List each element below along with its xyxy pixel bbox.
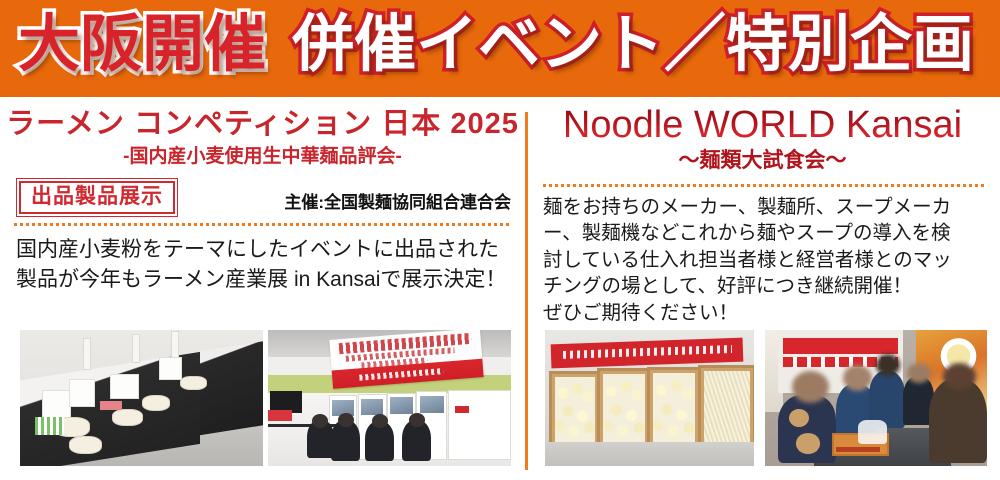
photo3-noodle-fill-1 [555, 377, 595, 442]
left-panel-body: 国内産小麦粉をテーマにしたイベントに出品された 製品が今年もラーメン産業展 in… [16, 235, 511, 295]
photo1-stand-1 [83, 338, 91, 370]
photo2-panel-image-2 [361, 399, 383, 416]
right-body-line-3: 討している仕入れ担当者様と経営者様とのマッ [543, 247, 990, 274]
photo3-noodle-fill-3 [653, 373, 695, 443]
photo1-color-swatch [100, 401, 122, 411]
photo3-dry-noodles [704, 371, 750, 441]
photo1-sample-5 [180, 376, 206, 390]
photo2-panel-5 [448, 390, 511, 460]
photo-competition-booth [268, 330, 511, 466]
photo3-crate-3 [647, 367, 701, 449]
exhibit-badge-label: 出品製品展示 [19, 181, 175, 214]
photo2-attendee-head-2 [338, 413, 354, 427]
left-panel-badge-row: 出品製品展示 主催:全国製麺協同組合連合会 [12, 178, 513, 214]
panels-container: ラーメン コンペティション 日本 2025 -国内産小麦使用生中華麺品評会- 出… [0, 97, 1000, 480]
photo1-sample-2 [69, 436, 103, 454]
photo4-plastic-bag [858, 420, 887, 444]
photo4-staff-1-head [843, 365, 872, 391]
header-text-group: 大阪開催 併催イベント／特別企画 [18, 6, 974, 84]
right-body-line-1: 麺をお持ちのメーカー、製麺所、スープメーカ [543, 194, 990, 221]
photo1-card-1 [42, 390, 71, 419]
exhibit-badge: 出品製品展示 [16, 178, 178, 217]
photo2-banner-host-text [359, 368, 444, 381]
photo1-stand-3 [171, 331, 179, 357]
right-photo-row [545, 330, 988, 466]
photo-product-display [20, 330, 263, 466]
photo4-visitor-3-body [929, 379, 987, 463]
event-banner: 大阪開催 併催イベント／特別企画 ラーメン コンペティション 日本 2025 -… [0, 0, 1000, 480]
banner-header: 大阪開催 併催イベント／特別企画 [0, 0, 1000, 97]
left-photo-row [20, 330, 512, 466]
right-panel-body: 麺をお持ちのメーカー、製麺所、スープメーカ ー、製麺機などこれから麺やスープの導… [543, 194, 990, 327]
photo3-crate-1 [549, 371, 601, 448]
photo1-green-chart [35, 417, 64, 435]
right-panel-subtitle: ～麺類大試食会～ [525, 149, 1000, 172]
photo4-knit-pattern-1 [789, 409, 809, 427]
left-body-line-2: 製品が今年もラーメン産業展 in Kansaiで展示決定！ [16, 268, 506, 291]
photo2-panel-image-4 [420, 396, 444, 413]
photo4-knit-pattern-2 [796, 433, 820, 453]
photo3-banner-caption-text [563, 345, 732, 359]
header-title: 併催イベント／特別企画 [292, 6, 974, 84]
photo2-panel-image-3 [390, 397, 412, 414]
photo1-stand-2 [132, 334, 140, 363]
left-body-line-1: 国内産小麦粉をテーマにしたイベントに出品された [16, 238, 499, 261]
organizer-text: 主催:全国製麺協同組合連合会 [284, 188, 511, 213]
photo2-attendee-head-1 [312, 414, 328, 428]
photo1-card-2 [69, 379, 95, 407]
photo-tasting-event [765, 330, 987, 466]
photo3-noodle-fill-2 [603, 374, 645, 443]
right-body-line-2: ー、製麺機などこれから麺やスープの導入を検 [543, 220, 990, 247]
right-panel: Noodle WORLD Kansai ～麺類大試食会～ 麺をお持ちのメーカー、… [525, 97, 1000, 480]
photo3-table-front [545, 442, 754, 466]
photo3-crate-2 [597, 368, 651, 449]
photo1-sample-4 [142, 395, 171, 411]
left-panel-subtitle: -国内産小麦使用生中華麺品評会- [0, 147, 525, 168]
photo2-red-tag [268, 410, 292, 421]
right-body-line-5: ぜひご期待ください！ [543, 300, 990, 327]
photo4-red-sign [783, 338, 898, 354]
left-dotted-divider [14, 223, 511, 226]
photo-noodle-display [545, 330, 754, 466]
left-panel-title: ラーメン コンペティション 日本 2025 [0, 109, 525, 141]
right-panel-title: Noodle WORLD Kansai [525, 105, 1000, 147]
photo4-visitor-3-head [943, 363, 976, 390]
header-highlight: 大阪開催 [18, 6, 266, 84]
photo1-card-4 [159, 357, 183, 379]
right-body-line-4: チングの場として、好評につき継続開催！ [543, 273, 990, 300]
photo4-sample-box-label [836, 447, 880, 452]
photo1-card-3 [110, 374, 139, 399]
photo1-sample-3 [112, 409, 143, 426]
left-panel: ラーメン コンペティション 日本 2025 -国内産小麦使用生中華麺品評会- 出… [0, 97, 525, 480]
photo3-crate-4 [698, 365, 754, 447]
vertical-divider [525, 112, 528, 470]
photo2-attendee-head-4 [409, 413, 425, 427]
photo2-panel-notice [455, 406, 470, 413]
right-dotted-divider [543, 184, 986, 187]
